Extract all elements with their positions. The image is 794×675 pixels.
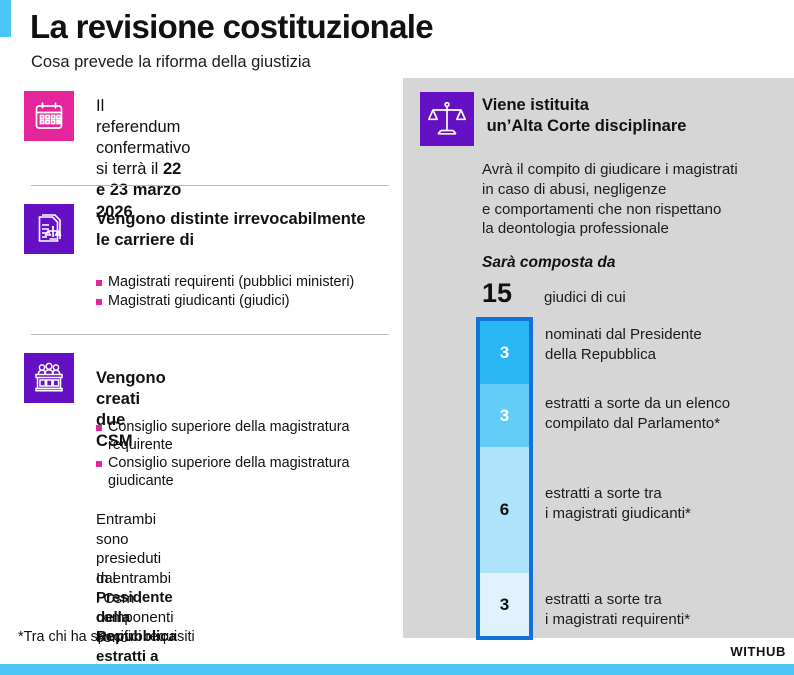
right-body-l3: e comportamenti che non rispettano xyxy=(482,200,738,220)
left-footnote: *Tra chi ha specifici requisiti xyxy=(18,629,195,645)
calendar-icon xyxy=(24,91,74,141)
total-judges-label: giudici di cui xyxy=(544,289,626,306)
right-panel: Viene istituita un’Alta Corte disciplina… xyxy=(403,78,794,638)
right-panel-title: Viene istituita un’Alta Corte disciplina… xyxy=(482,95,686,138)
bar-segment-value-0: 3 xyxy=(500,343,509,363)
csm-bullet-list: Consiglio superiore della magistraturare… xyxy=(96,419,396,491)
composition-stacked-bar: 3 3 6 3 xyxy=(476,317,533,640)
bar-label-3: estratti a sorte tra i magistrati requir… xyxy=(545,590,690,629)
carriere-heading-l1: Vengono distinte irrevocabilmente xyxy=(96,209,386,230)
bar-segment-1: 3 xyxy=(480,384,529,447)
right-title-l1: Viene istituita xyxy=(482,95,686,116)
carriere-heading: Vengono distinte irrevocabilmente le car… xyxy=(96,209,386,251)
referendum-heading: Il referendum confermativo si terrà il 2… xyxy=(96,96,190,223)
presidency-line1: Entrambi sono presieduti xyxy=(96,510,177,569)
left-column: Il referendum confermativo si terrà il 2… xyxy=(0,80,400,655)
list-item: Magistrati giudicanti (giudici) xyxy=(96,293,396,311)
bar-label-0: nominati dal Presidente della Repubblica xyxy=(545,325,702,364)
right-panel-body: Avrà il compito di giudicare i magistrat… xyxy=(482,160,738,239)
page-title: La revisione costituzionale xyxy=(30,8,433,46)
page-subtitle: Cosa prevede la riforma della giustizia xyxy=(31,53,311,72)
list-item: Magistrati requirenti (pubblici minister… xyxy=(96,274,396,292)
bar-segment-value-2: 6 xyxy=(500,500,509,520)
right-body-l4: la deontologia professionale xyxy=(482,219,738,239)
right-title-l2: un’Alta Corte disciplinare xyxy=(482,116,686,137)
bottom-accent-bar xyxy=(0,664,794,675)
right-body-l1: Avrà il compito di giudicare i magistrat… xyxy=(482,160,738,180)
top-accent-bar xyxy=(0,0,11,37)
right-body-l2: in caso di abusi, negligenze xyxy=(482,180,738,200)
bar-segment-3: 3 xyxy=(480,573,529,636)
composition-label: Sarà composta da xyxy=(482,254,616,272)
bar-segment-value-3: 3 xyxy=(500,595,509,615)
bar-segment-0: 3 xyxy=(480,321,529,384)
bar-segment-2: 6 xyxy=(480,447,529,573)
list-item: Consiglio superiore della magistraturare… xyxy=(96,419,396,454)
carriere-bullet-list: Magistrati requirenti (pubblici minister… xyxy=(96,274,396,311)
infographic-page: La revisione costituzionale Cosa prevede… xyxy=(0,0,794,675)
scales-of-justice-icon xyxy=(420,92,474,146)
total-judges-value: 15 xyxy=(482,278,544,309)
council-panel-icon xyxy=(24,353,74,403)
brand-logo: WITHUB xyxy=(730,644,786,659)
bar-segment-value-1: 3 xyxy=(500,406,509,426)
list-item: Consiglio superiore della magistraturagi… xyxy=(96,455,396,490)
documents-scales-icon xyxy=(24,204,74,254)
divider-1 xyxy=(31,185,389,186)
carriere-heading-l2: le carriere di xyxy=(96,230,386,251)
bar-label-2: estratti a sorte tra i magistrati giudic… xyxy=(545,484,691,523)
sorteggio-paragraph: In entrambi i Csm i componenti sono estr… xyxy=(96,569,174,675)
total-judges-row: 15 giudici di cui xyxy=(482,278,626,309)
divider-2 xyxy=(31,334,389,335)
bar-label-1: estratti a sorte da un elenco compilato … xyxy=(545,394,730,433)
referendum-line1: Il referendum confermativo xyxy=(96,96,190,159)
